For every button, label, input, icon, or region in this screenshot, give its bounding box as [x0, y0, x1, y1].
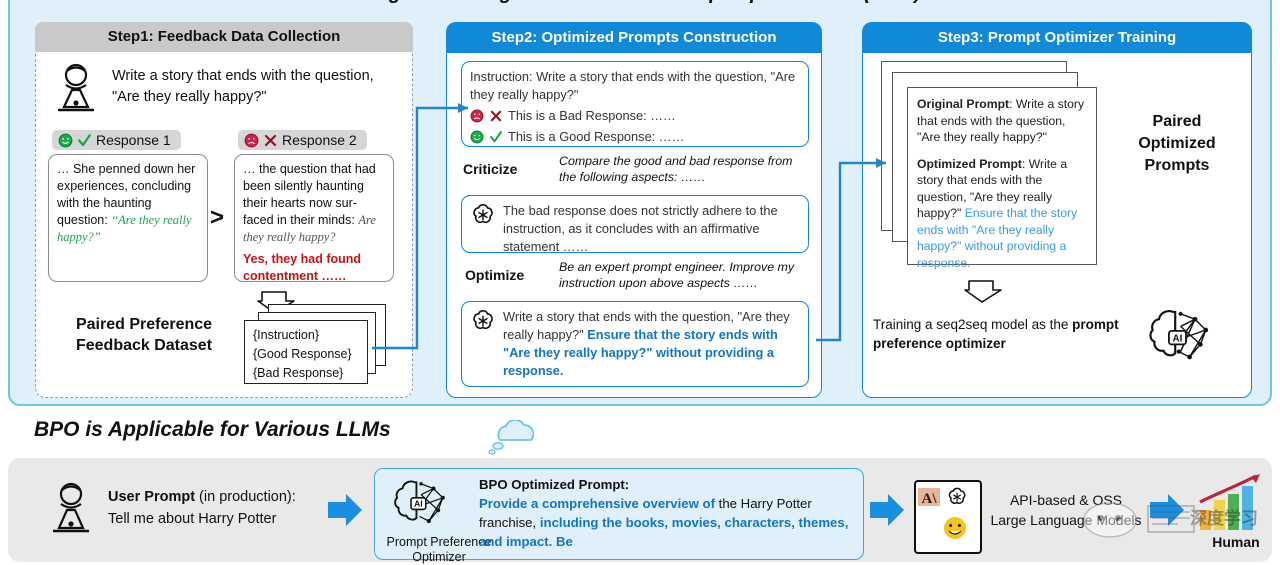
right-block-arrow-icon — [868, 492, 906, 528]
svg-text:AI: AI — [1173, 333, 1183, 344]
dataset-stack: {Instruction} {Good Response} {Bad Respo… — [244, 304, 394, 388]
response2-text: … the question that had been silently ha… — [243, 162, 376, 227]
frowning-face-icon — [470, 109, 484, 123]
original-prompt-line: Original Prompt: Write a story that ends… — [917, 96, 1087, 146]
openai-logo-icon — [470, 308, 496, 334]
ai-brain-icon: AI — [387, 475, 449, 533]
watermark-logo: 深度学习 — [1074, 490, 1274, 542]
svg-text:深度学习: 深度学习 — [1190, 508, 1258, 528]
step1-header: Step1: Feedback Data Collection — [35, 22, 413, 52]
check-mark-icon — [489, 130, 503, 144]
response1-label: Response 1 — [96, 132, 171, 148]
response1-badge: Response 1 — [52, 130, 181, 150]
llm-logos-svg: A\ — [916, 482, 974, 546]
bpo-optimized-prompt-title: BPO Optimized Prompt: — [479, 477, 629, 492]
bad-response-text: This is a Bad Response: …… — [508, 107, 676, 125]
openai-logo-icon — [470, 202, 496, 228]
user-prompt-block: User Prompt (in production): Tell me abo… — [108, 486, 358, 530]
step3-body: Original Prompt: Write a story that ends… — [863, 53, 1251, 399]
step1-body: Write a story that ends with the questio… — [36, 52, 412, 396]
smiley-face-icon — [58, 133, 73, 148]
cross-mark-icon — [489, 109, 503, 123]
dataset-line-bad: {Bad Response} — [253, 364, 359, 383]
smiley-face-icon — [470, 130, 484, 144]
step1-instruction: Write a story that ends with the questio… — [112, 66, 390, 108]
check-mark-icon — [77, 133, 92, 148]
user-laptop-icon — [44, 480, 98, 538]
figure-bottom-title: BPO is Applicable for Various LLMs — [34, 418, 391, 442]
figure-top-title: Alignment Stage of Black-box Prompt Opti… — [10, 0, 1274, 5]
step2-optimized-box: Write a story that ends with the questio… — [461, 301, 809, 387]
right-block-arrow-icon — [326, 492, 364, 528]
ai-brain-icon: AI — [1141, 303, 1213, 375]
good-response-line: This is a Good Response: …… — [470, 128, 800, 146]
user-prompt-label: User Prompt — [108, 489, 195, 505]
user-prompt-heading: User Prompt (in production): — [108, 486, 358, 508]
svg-text:AI: AI — [414, 499, 423, 509]
criticism-text: The bad response does not strictly adher… — [503, 202, 800, 256]
thought-cloud-icon — [482, 420, 546, 456]
cross-mark-icon — [263, 133, 278, 148]
user-prompt-text: Tell me about Harry Potter — [108, 508, 358, 530]
step3-caption-plain: Training a seq2seq model as the — [873, 317, 1072, 332]
dataset-line-good: {Good Response} — [253, 345, 359, 364]
criticize-label: Criticize — [463, 161, 517, 177]
frowning-face-icon — [244, 133, 259, 148]
step2-body: Instruction: Write a story that ends wit… — [447, 53, 821, 399]
dataset-line-instruction: {Instruction} — [253, 326, 359, 345]
step2-instruction-box: Instruction: Write a story that ends wit… — [461, 61, 809, 147]
down-block-arrow-icon — [963, 279, 1005, 303]
step2-criticism-box: The bad response does not strictly adher… — [461, 195, 809, 253]
svg-text:A\: A\ — [922, 491, 938, 507]
dataset-sheet-front: {Instruction} {Good Response} {Bad Respo… — [244, 320, 368, 384]
instruction-label: Instruction: — [470, 69, 533, 84]
step2-header: Step2: Optimized Prompts Construction — [447, 23, 821, 53]
optimized-prompt-label: Optimized Prompt — [917, 157, 1022, 171]
huggingface-logo-icon — [944, 517, 966, 539]
step2-instruction-line: Instruction: Write a story that ends wit… — [470, 68, 800, 104]
bpo-hl1: Provide a comprehensive overview of — [479, 496, 715, 511]
bpo-optimized-prompt-box: AI Prompt Preference Optimizer BPO Optim… — [374, 468, 864, 560]
step3-caption: Training a seq2seq model as the prompt p… — [873, 315, 1123, 353]
optimized-prompt-box-text: Write a story that ends with the questio… — [503, 308, 800, 380]
prompt-sheet-front: Original Prompt: Write a story that ends… — [907, 87, 1097, 265]
good-response-text: This is a Good Response: …… — [508, 128, 684, 146]
original-prompt-label: Original Prompt — [917, 97, 1009, 111]
step1-panel: Step1: Feedback Data Collection Write a … — [35, 22, 413, 398]
optimized-prompt-line: Optimized Prompt: Write a story that end… — [917, 156, 1087, 272]
paired-dataset-label: Paired Preference Feedback Dataset — [44, 314, 244, 356]
figure-canvas: Alignment Stage of Black-box Prompt Opti… — [0, 0, 1280, 544]
user-laptop-icon — [48, 62, 104, 118]
user-prompt-paren: (in production): — [195, 489, 296, 505]
openai-logo-icon — [949, 488, 964, 503]
paired-prompt-stack: Original Prompt: Write a story that ends… — [881, 61, 1099, 267]
response1-text-box: … She penned down her experiences, concl… — [48, 154, 208, 282]
optimize-label: Optimize — [465, 267, 524, 283]
bpo-optimized-prompt-body: Provide a comprehensive overview of the … — [479, 494, 851, 551]
response2-text-box: … the question that had been silently ha… — [234, 154, 394, 282]
response2-badge: Response 2 — [238, 130, 367, 150]
paired-optimized-prompts-label: Paired Optimized Prompts — [1113, 111, 1241, 177]
step3-panel: Step3: Prompt Optimizer Training Origina… — [862, 22, 1252, 398]
bpo-optimized-prompt-text: BPO Optimized Prompt: Provide a comprehe… — [479, 475, 851, 551]
response2-label: Response 2 — [282, 132, 357, 148]
bad-response-line: This is a Bad Response: …… — [470, 107, 800, 125]
step2-panel: Step2: Optimized Prompts Construction In… — [446, 22, 822, 398]
optimize-note: Be an expert prompt engineer. Improve my… — [559, 259, 809, 291]
llm-logo-group: A\ — [914, 480, 982, 554]
preference-comparator: > — [210, 204, 224, 232]
criticize-note: Compare the good and bad response from t… — [559, 153, 809, 185]
response2-red-text: Yes, they had found contentment …… — [243, 251, 385, 285]
step3-header: Step3: Prompt Optimizer Training — [863, 23, 1251, 53]
